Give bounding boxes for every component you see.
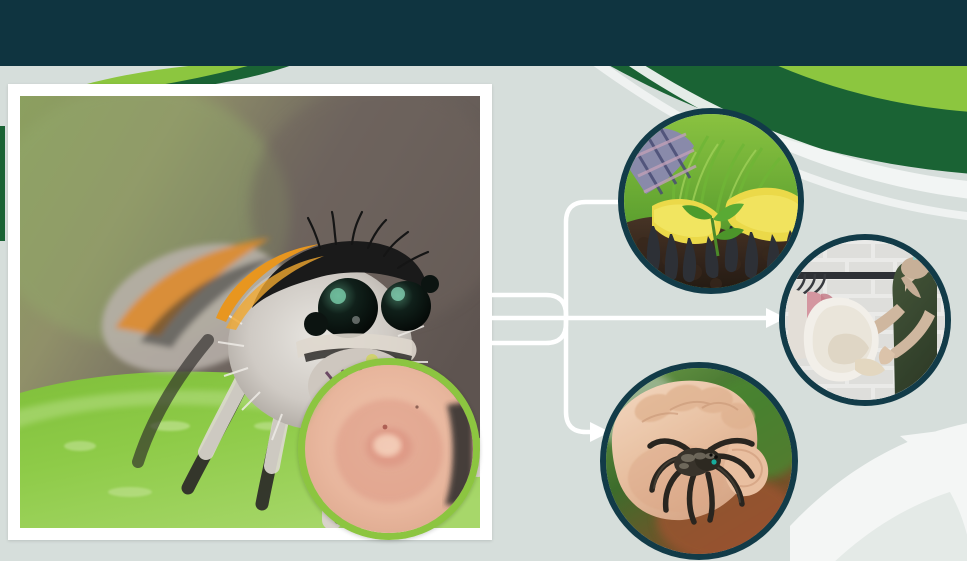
infographic-poster: Prevention of Jumping Spider Bites (0, 0, 967, 561)
spider-eye-left (318, 278, 378, 338)
laundry-folding-photo (779, 234, 951, 406)
header-bar (0, 0, 967, 66)
left-edge-green-sliver (0, 126, 5, 241)
gardening-gloves-photo (618, 108, 804, 294)
spider-bite-skin-photo (298, 358, 480, 540)
spider-on-hand-photo (600, 362, 798, 560)
